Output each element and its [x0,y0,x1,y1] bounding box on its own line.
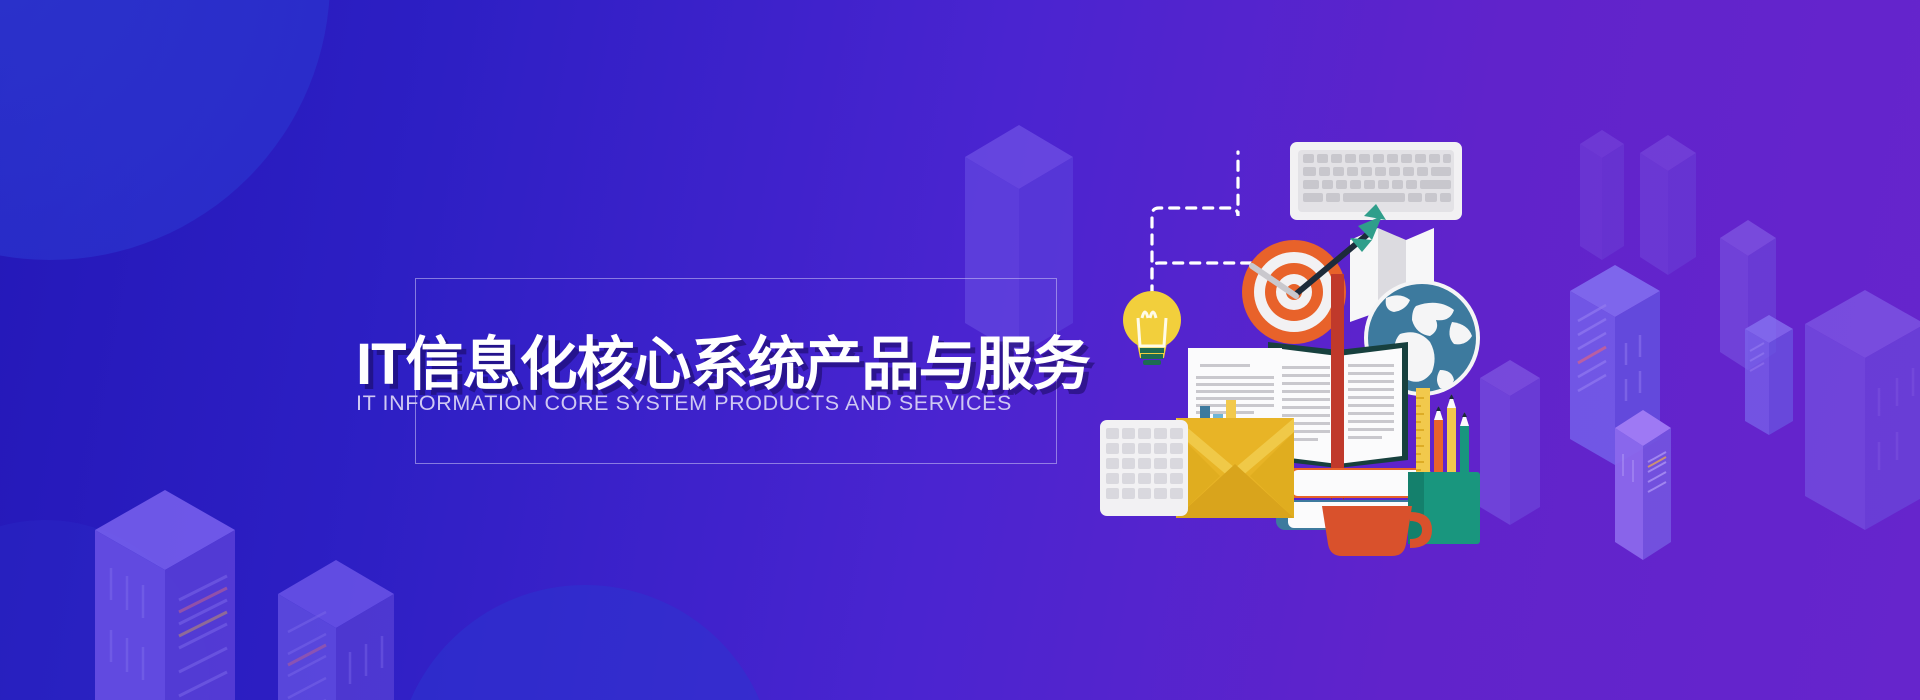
headline-frame: IT信息化核心系统产品与服务 IT INFORMATION CORE SYSTE… [415,278,1057,464]
iso-building-right-g [1580,130,1635,260]
iso-building-right-f [1615,410,1685,560]
hero-banner: IT信息化核心系统产品与服务 IT INFORMATION CORE SYSTE… [0,0,1920,700]
decorative-circle-top-left [0,0,330,260]
iso-building-right-a [1640,135,1710,275]
iso-building-left-tall [95,490,265,700]
page-subtitle: IT INFORMATION CORE SYSTEM PRODUCTS AND … [356,391,1116,416]
iso-building-right-e [1805,290,1920,530]
keyboard-bottom-icon [1100,420,1188,516]
bookmark-ribbon-icon [1331,274,1344,500]
iso-building-right-c [1720,220,1790,370]
lightbulb-icon [1123,291,1181,365]
decorative-circle-bottom-center [395,585,775,700]
decorative-circle-bottom-left [0,520,210,700]
hero-illustration [1100,120,1520,580]
envelope-icon [1176,418,1294,518]
iso-building-left-short [278,560,418,700]
iso-building-right-d [1745,315,1805,435]
iso-building-right-b [1570,265,1680,465]
pencil-cup-icon [1408,472,1480,544]
page-title: IT信息化核心系统产品与服务 [356,317,1116,401]
